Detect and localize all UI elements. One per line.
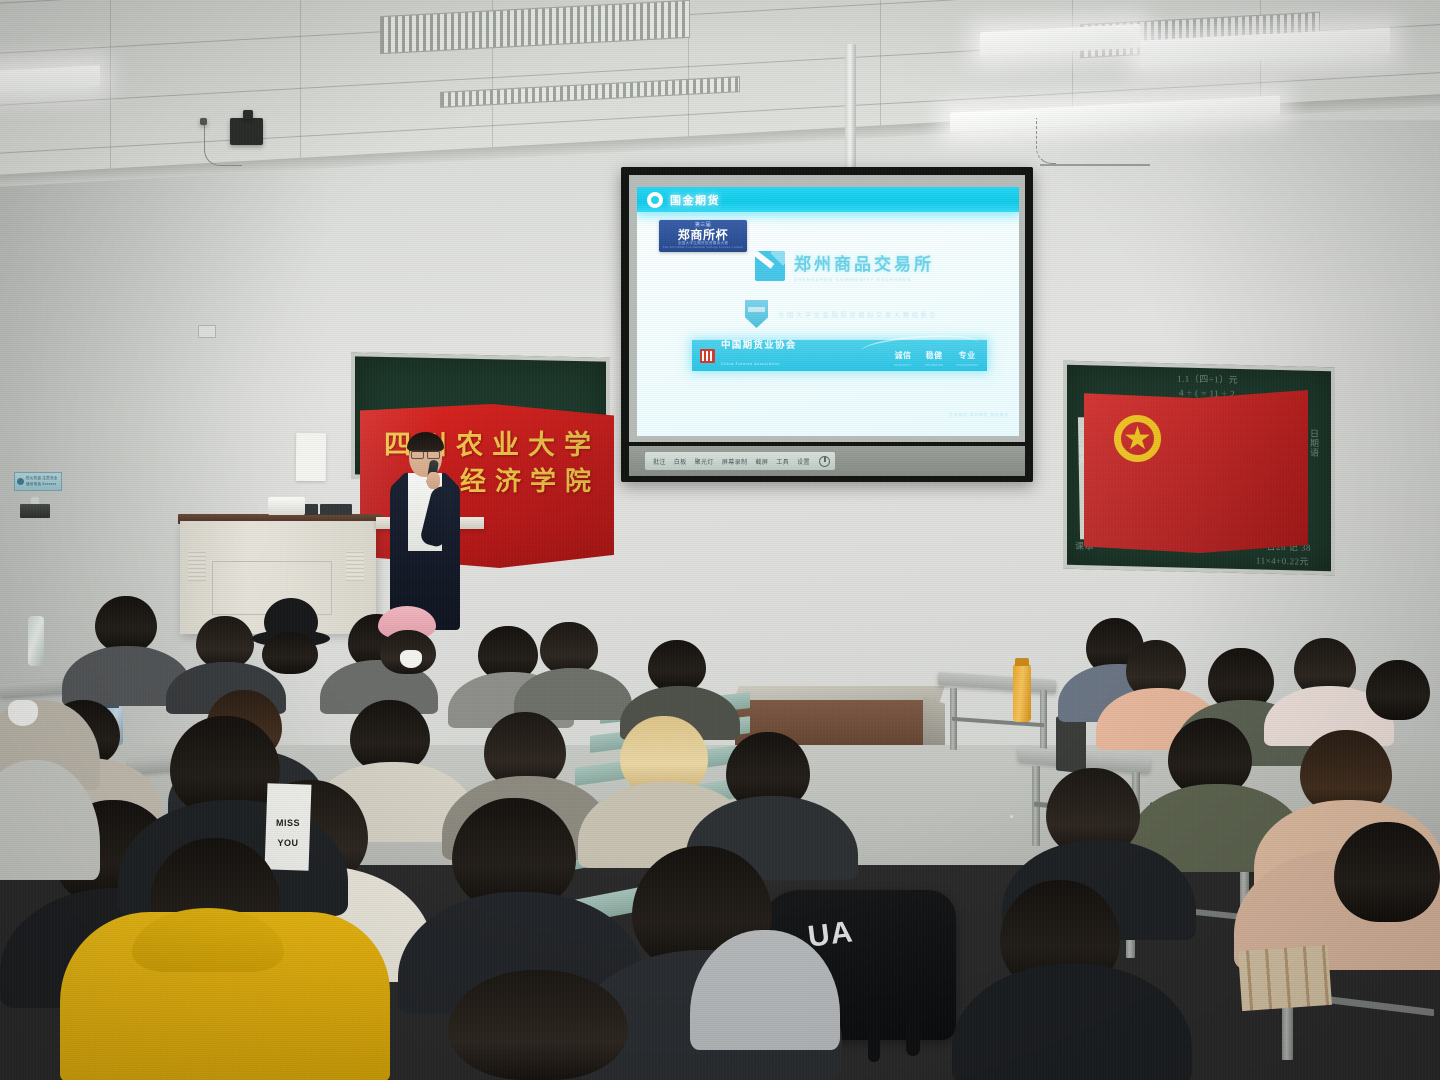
star-icon — [1125, 426, 1151, 452]
value-sub: PRUDENCE — [925, 363, 943, 367]
zhengzhou-exchange-icon — [755, 251, 785, 281]
glasses-icon — [411, 450, 440, 456]
backpack-strap — [868, 996, 880, 1062]
shirt-text-line-2: YOU — [266, 838, 310, 849]
console-vent — [346, 551, 364, 581]
shield-icon — [745, 300, 768, 328]
speaker-cable — [204, 124, 242, 166]
cable-anchor — [200, 118, 207, 125]
console-vent — [188, 551, 206, 581]
value-mark: 稳健 PRUDENCE — [925, 345, 943, 367]
chalk-note: 11×4+0.22元 — [1256, 555, 1309, 568]
slide-body: 第三届 郑商所杯 全国大学生期货投资模拟大赛 The 3rd CZCE Cup … — [637, 212, 1019, 422]
audience-head — [540, 622, 598, 674]
youth-league-flag — [1084, 390, 1308, 553]
value-sub: INTEGRITY — [894, 363, 912, 367]
slide-header-text: 国金期货 — [670, 192, 720, 208]
presenter-hand — [427, 472, 440, 489]
wall-speaker-mount — [243, 110, 253, 119]
presenter-hair — [407, 432, 444, 452]
audience-head — [1366, 660, 1430, 720]
association-bar: 中国期货业协会 China Futures Association 诚信 INT… — [692, 340, 987, 371]
sign-line-2: 值班电话 8xxxxxx — [26, 482, 58, 487]
power-icon[interactable] — [819, 456, 830, 467]
organizer-text: 全国大学生金融投资模拟交易大赛组委会 — [778, 309, 938, 319]
slide-footer-text: 主办单位 承办单位 协办单位 — [949, 412, 1009, 418]
value-sub: PROFESSION — [956, 363, 978, 367]
face-mask — [8, 700, 38, 726]
hanging-cable — [1036, 118, 1056, 164]
contest-subtitle-en: The 3rd CZCE Cup National College Future… — [663, 246, 744, 249]
toolbar-button-record[interactable]: 屏幕录制 — [719, 456, 751, 467]
value-mark: 诚信 INTEGRITY — [894, 345, 912, 367]
value-glyph: 诚信 — [894, 351, 911, 360]
audience-head — [648, 640, 706, 692]
exchange-name: 郑州商品交易所 — [794, 255, 934, 274]
audience-head — [448, 970, 628, 1080]
toolbar-button-settings[interactable]: 设置 — [794, 456, 813, 467]
contest-name: 郑商所杯 — [678, 229, 728, 241]
shirt-text-line-1: MISS — [266, 818, 310, 829]
lecture-hall-photo: 国金期货 第三届 郑商所杯 全国大学生期货投资模拟大赛 The 3rd CZCE… — [0, 0, 1440, 1080]
slide-header-bar: 国金期货 — [637, 187, 1019, 212]
toolbar-button-spotlight[interactable]: 聚光灯 — [692, 456, 717, 467]
safety-notice-sign: 防火防盗 注意安全 值班电话 8xxxxxx — [14, 472, 62, 491]
plaid-scarf — [1238, 945, 1332, 1011]
chair-back — [1056, 716, 1086, 773]
sign-icon — [17, 478, 24, 485]
toolbar-button-annotate[interactable]: 批注 — [650, 456, 669, 467]
ceiling-wire — [1040, 164, 1150, 166]
presenter — [386, 428, 464, 633]
board-display-area: 国金期货 第三届 郑商所杯 全国大学生期货投资模拟大赛 The 3rd CZCE… — [629, 175, 1025, 442]
console-device — [268, 497, 305, 515]
console-equipment — [320, 504, 352, 515]
posted-paper — [296, 433, 327, 481]
value-glyph: 稳健 — [926, 351, 943, 360]
interactive-whiteboard[interactable]: 国金期货 第三届 郑商所杯 全国大学生期货投资模拟大赛 The 3rd CZCE… — [621, 167, 1033, 482]
association-name-en: China Futures Association — [721, 362, 780, 366]
board-bottom-tray: 批注 白板 聚光灯 屏幕录制 截屏 工具 设置 — [629, 446, 1025, 476]
exchange-logo-row: 郑州商品交易所 ZHENGZHOU COMMODITY EXCHANGE — [755, 250, 934, 282]
association-values: 诚信 INTEGRITY 稳健 PRUDENCE 专业 PROFESSION — [894, 345, 987, 367]
toolbar-button-screenshot[interactable]: 截屏 — [752, 456, 771, 467]
contest-badge: 第三届 郑商所杯 全国大学生期货投资模拟大赛 The 3rd CZCE Cup … — [659, 220, 747, 252]
toolbar-button-whiteboard[interactable]: 白板 — [671, 456, 690, 467]
water-bottle — [1013, 664, 1031, 722]
toolbar-button-tools[interactable]: 工具 — [773, 456, 792, 467]
exchange-name-en: ZHENGZHOU COMMODITY EXCHANGE — [794, 277, 934, 282]
association-name: 中国期货业协会 — [721, 341, 797, 351]
value-mark: 专业 PROFESSION — [956, 345, 978, 367]
audience-head — [196, 616, 254, 668]
board-toolbar[interactable]: 批注 白板 聚光灯 屏幕录制 截屏 工具 设置 — [645, 452, 835, 470]
audience-shoulders — [952, 964, 1192, 1080]
association-logo-icon — [700, 349, 715, 363]
wall-fixture — [20, 504, 50, 518]
audience-head — [1334, 822, 1440, 922]
bottle-cap — [1015, 658, 1029, 666]
value-glyph: 专业 — [959, 351, 976, 360]
chalk-note: 日期语 — [1307, 429, 1319, 458]
face-mask — [400, 650, 422, 668]
water-bottle — [28, 616, 44, 666]
audience-head — [95, 596, 157, 652]
sponsor-logo-icon — [647, 192, 663, 208]
presentation-slide: 国金期货 第三届 郑商所杯 全国大学生期货投资模拟大赛 The 3rd CZCE… — [637, 187, 1019, 436]
flag-emblem-icon — [1114, 415, 1161, 462]
audience-head — [262, 632, 318, 674]
wall-outlet — [198, 325, 216, 338]
organizer-row: 全国大学生金融投资模拟交易大赛组委会 — [745, 300, 938, 328]
backpack-strap — [906, 984, 920, 1056]
chalk-note: 1.1（四÷1）元 — [1177, 373, 1238, 386]
contest-edition: 第三届 — [695, 223, 711, 228]
sign-line-1: 防火防盗 注意安全 — [26, 476, 58, 481]
